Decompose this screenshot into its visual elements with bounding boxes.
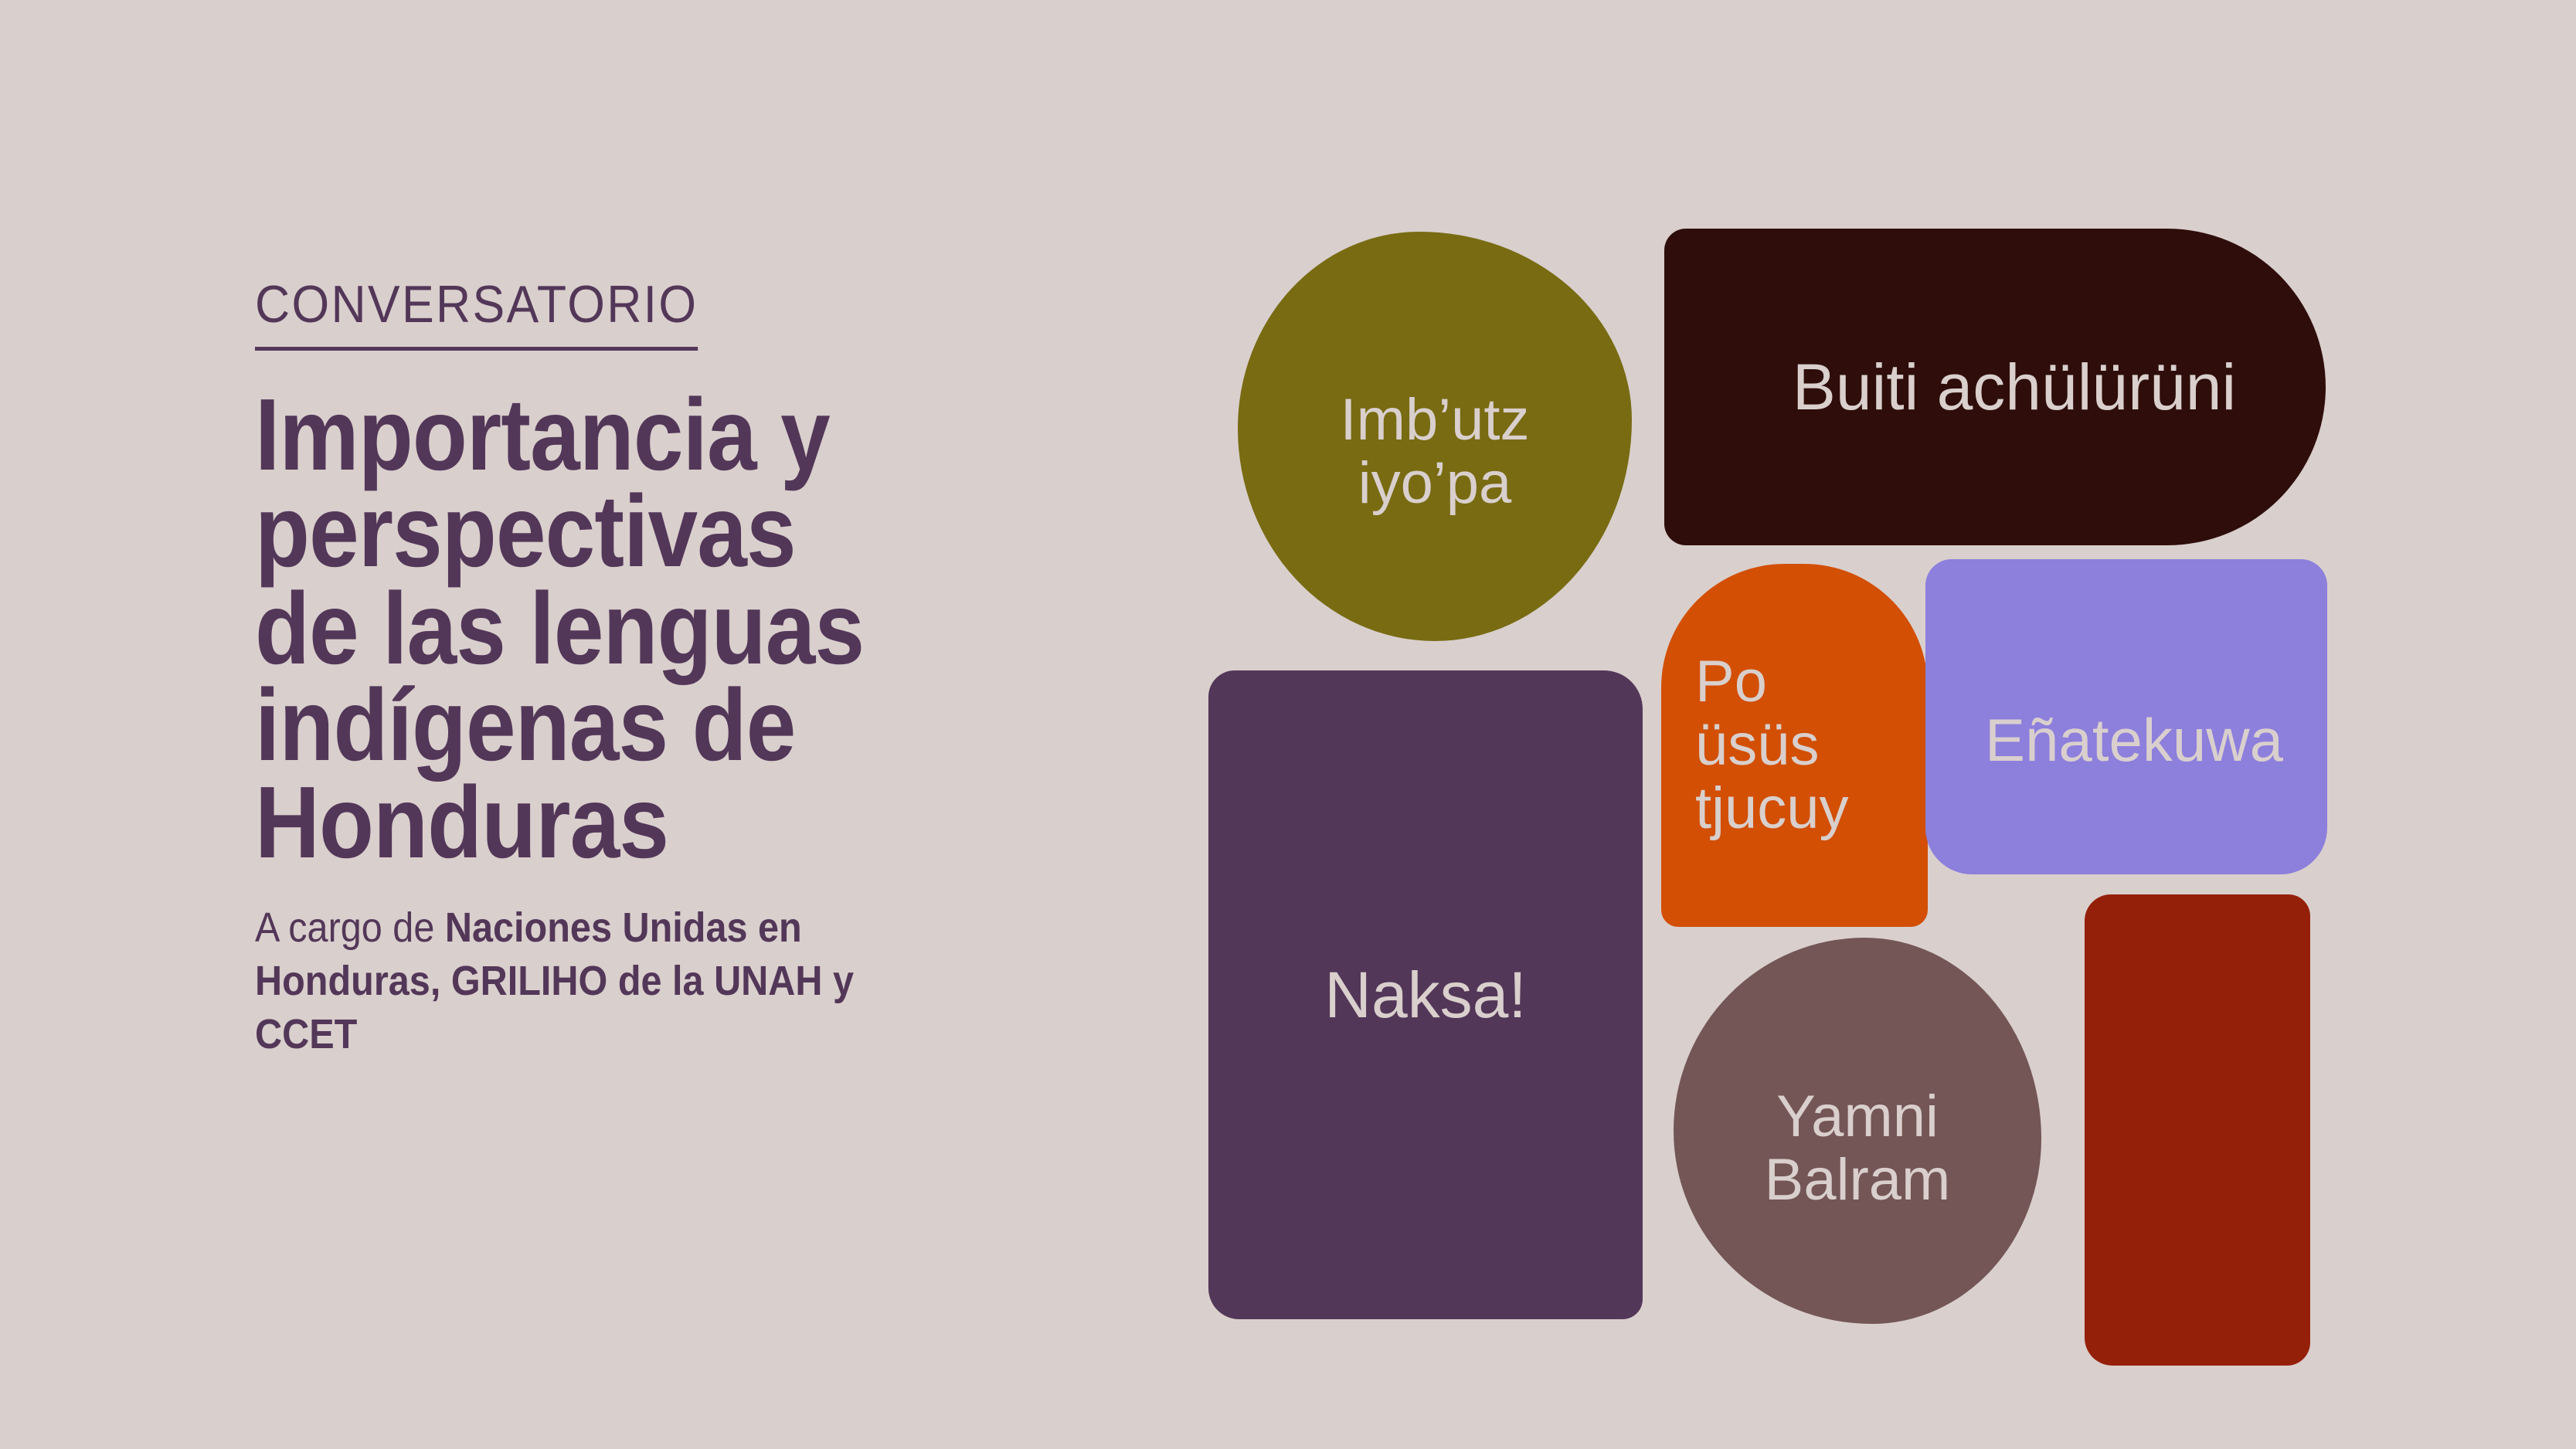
greeting-label-naksa: Naksa!	[1324, 960, 1526, 1030]
greetings-shape-cluster: Imb’utz iyo’pa Buiti achülürüni Naksa! P…	[1190, 199, 2519, 1327]
headline-block: CONVERSATORIO Importancia y perspectivas…	[255, 274, 1167, 1061]
credit-line: A cargo de Naciones Unidas en Honduras, …	[255, 901, 881, 1061]
greeting-label-buiti-achuluruni: Buiti achülürüni	[1793, 352, 2236, 422]
headline-line-1: Importancia y	[255, 386, 1057, 483]
headline-line-2: perspectivas	[255, 483, 1057, 579]
greeting-label-yamni-balram: Yamni Balram	[1765, 1085, 1951, 1212]
greeting-shape-purple-slab: Naksa!	[1208, 670, 1643, 1319]
credit-prefix: A cargo de	[255, 904, 445, 951]
greeting-label-imbutz-iyopa: Imb’utz iyo’pa	[1341, 389, 1530, 515]
greeting-shape-dark-brown-pill: Buiti achülürüni	[1664, 229, 2326, 545]
headline-line-4: indígenas de	[255, 677, 1057, 773]
headline-line-3: de las lenguas	[255, 580, 1057, 677]
greeting-shape-orange-arch: Po üsüs tjucuy	[1661, 564, 1928, 927]
greeting-label-enatekuwa: Eñatekuwa	[1985, 708, 2283, 772]
greeting-shape-dark-red-slab	[2085, 894, 2310, 1366]
poster-canvas: CONVERSATORIO Importancia y perspectivas…	[0, 0, 2576, 1449]
greeting-label-po-usus-tjucuy: Po üsüs tjucuy	[1695, 650, 1849, 840]
greeting-shape-lavender-card: Eñatekuwa	[1925, 559, 2327, 874]
kicker-label: CONVERSATORIO	[255, 274, 698, 351]
headline-line-5: Honduras	[255, 774, 1057, 870]
greeting-shape-olive-blob: Imb’utz iyo’pa	[1238, 232, 1632, 641]
greeting-shape-taupe-circle: Yamni Balram	[1674, 938, 2041, 1324]
page-title: Importancia y perspectivas de las lengua…	[255, 386, 1057, 870]
